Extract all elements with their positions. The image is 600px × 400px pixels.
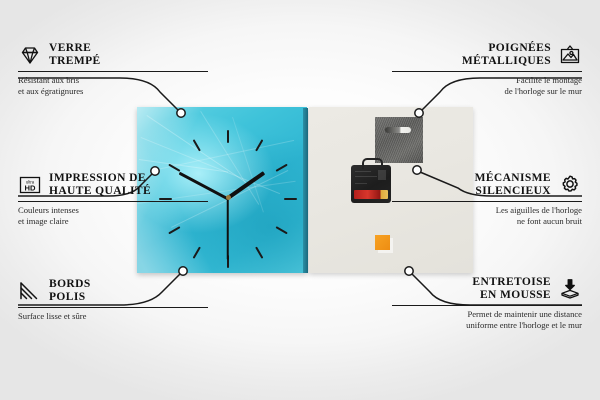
feature-desc-line1: Surface lisse et sûre — [18, 311, 208, 322]
feature-desc-line2: et aux égratignures — [18, 86, 208, 97]
feature-title-line2: SILENCIEUX — [475, 185, 551, 198]
connector-dot-entretoise — [405, 267, 413, 275]
feature-mecanisme-silencieux: MÉCANISME SILENCIEUX Les aiguilles de l'… — [392, 172, 582, 227]
feature-header: ENTRETOISE EN MOUSSE — [392, 276, 582, 302]
ultra-hd-icon: ultra HD — [18, 173, 42, 197]
connector-dot-verre-trempe — [177, 109, 185, 117]
feature-header: BORDS POLIS — [18, 278, 208, 304]
feature-poignees-metalliques: POIGNÉES MÉTALLIQUES Facilite le montage… — [392, 42, 582, 97]
feature-header: MÉCANISME SILENCIEUX — [392, 172, 582, 198]
feature-description: Surface lisse et sûre — [18, 311, 208, 322]
feature-title-line2: MÉTALLIQUES — [462, 55, 551, 68]
infographic-canvas: VERRE TREMPÉ Résistant aux bris et aux é… — [0, 0, 600, 400]
feature-divider — [392, 201, 582, 202]
feature-header: VERRE TREMPÉ — [18, 42, 208, 68]
feature-title-line2: HAUTE QUALITÉ — [49, 185, 151, 198]
feature-desc-line1: Permet de maintenir une distance — [392, 309, 582, 320]
feature-title: IMPRESSION DE HAUTE QUALITÉ — [49, 172, 151, 198]
feature-desc-line2: uniforme entre l'horloge et le mur — [392, 320, 582, 331]
picture-hanger-icon — [558, 43, 582, 67]
feature-title: MÉCANISME SILENCIEUX — [475, 172, 551, 198]
diamond-icon — [18, 43, 42, 67]
feature-header: POIGNÉES MÉTALLIQUES — [392, 42, 582, 68]
feature-divider — [392, 305, 582, 306]
feature-desc-line2: de l'horloge sur le mur — [392, 86, 582, 97]
feature-title-line2: TREMPÉ — [49, 55, 101, 68]
ultra-hd-icon-bottom-text: HD — [25, 183, 36, 192]
feature-title-line1: VERRE — [49, 42, 101, 55]
feature-bords-polis: BORDS POLIS Surface lisse et sûre — [18, 278, 208, 322]
feature-description: Permet de maintenir une distance uniform… — [392, 309, 582, 330]
feature-desc-line1: Les aiguilles de l'horloge — [392, 205, 582, 216]
gear-icon — [558, 173, 582, 197]
feature-desc-line1: Facilite le montage — [392, 75, 582, 86]
feature-divider — [18, 71, 208, 72]
feature-divider — [392, 71, 582, 72]
feature-title-line1: BORDS — [49, 278, 91, 291]
feature-desc-line2: ne font aucun bruit — [392, 216, 582, 227]
feature-title-line1: MÉCANISME — [475, 172, 551, 185]
feature-impression-haute-qualite: ultra HD IMPRESSION DE HAUTE QUALITÉ Cou… — [18, 172, 208, 227]
feature-desc-line1: Résistant aux bris — [18, 75, 208, 86]
feature-title-line1: POIGNÉES — [462, 42, 551, 55]
feature-desc-line1: Couleurs intenses — [18, 205, 208, 216]
polished-edges-icon — [18, 279, 42, 303]
feature-header: ultra HD IMPRESSION DE HAUTE QUALITÉ — [18, 172, 208, 198]
connector-dot-bords-polis — [179, 267, 187, 275]
feature-description: Les aiguilles de l'horloge ne font aucun… — [392, 205, 582, 226]
feature-title: BORDS POLIS — [49, 278, 91, 304]
feature-title: VERRE TREMPÉ — [49, 42, 101, 68]
foam-spacer-icon — [558, 277, 582, 301]
feature-verre-trempe: VERRE TREMPÉ Résistant aux bris et aux é… — [18, 42, 208, 97]
feature-divider — [18, 201, 208, 202]
feature-description: Couleurs intenses et image claire — [18, 205, 208, 226]
feature-entretoise-en-mousse: ENTRETOISE EN MOUSSE Permet de maintenir… — [392, 276, 582, 331]
feature-divider — [18, 307, 208, 308]
feature-description: Résistant aux bris et aux égratignures — [18, 75, 208, 96]
feature-title: POIGNÉES MÉTALLIQUES — [462, 42, 551, 68]
feature-title-line2: EN MOUSSE — [472, 289, 551, 302]
feature-desc-line2: et image claire — [18, 216, 208, 227]
feature-title-line2: POLIS — [49, 291, 91, 304]
feature-title-line1: IMPRESSION DE — [49, 172, 151, 185]
feature-title-line1: ENTRETOISE — [472, 276, 551, 289]
connector-dot-poignees — [415, 109, 423, 117]
feature-title: ENTRETOISE EN MOUSSE — [472, 276, 551, 302]
feature-description: Facilite le montage de l'horloge sur le … — [392, 75, 582, 96]
